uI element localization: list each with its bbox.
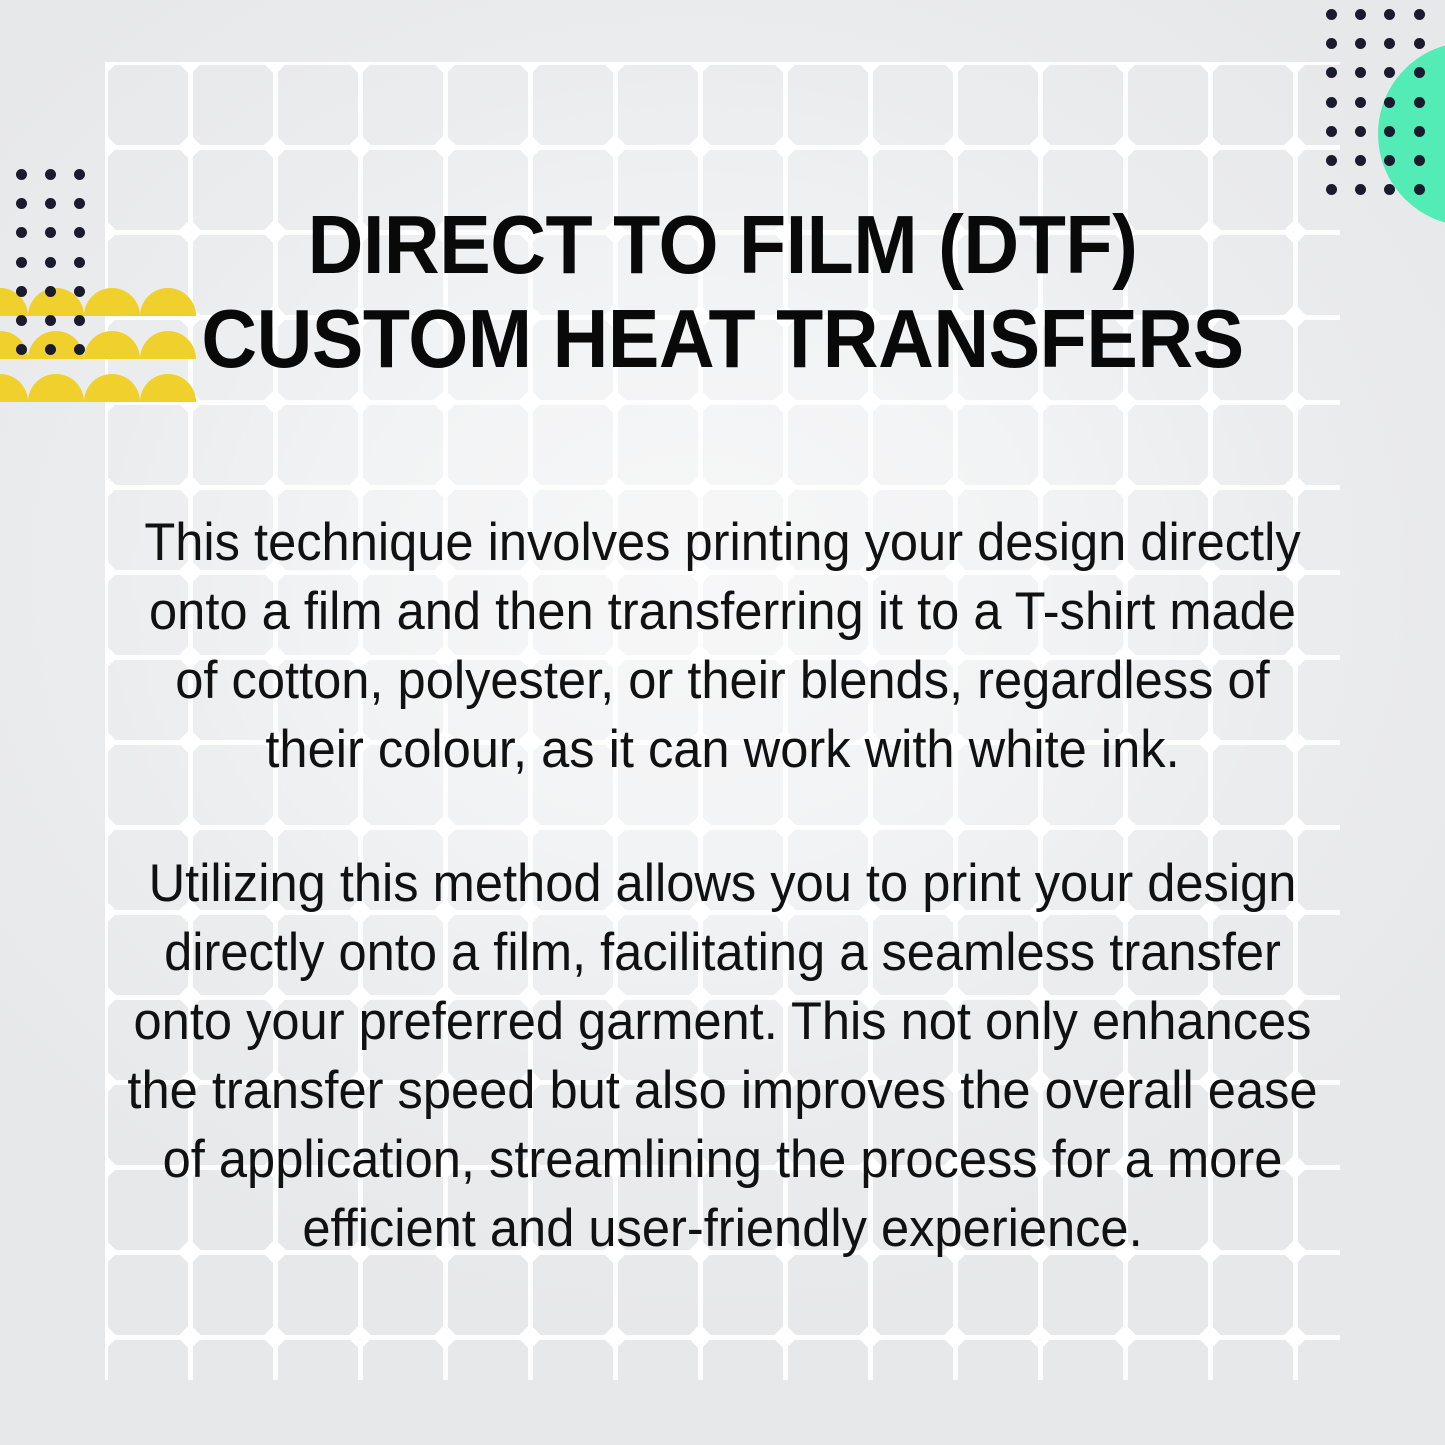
paragraph-method-benefits: Utilizing this method allows you to prin… [123, 849, 1322, 1263]
title-line-2: CUSTOM HEAT TRANSFERS [144, 292, 1302, 386]
paragraph-technique-description: This technique involves printing your de… [123, 508, 1322, 784]
poster-canvas: DIRECT TO FILM (DTF) CUSTOM HEAT TRANSFE… [0, 0, 1445, 1445]
poster-content: DIRECT TO FILM (DTF) CUSTOM HEAT TRANSFE… [0, 0, 1445, 1445]
title-line-1: DIRECT TO FILM (DTF) [144, 198, 1302, 292]
page-title: DIRECT TO FILM (DTF) CUSTOM HEAT TRANSFE… [144, 198, 1302, 386]
